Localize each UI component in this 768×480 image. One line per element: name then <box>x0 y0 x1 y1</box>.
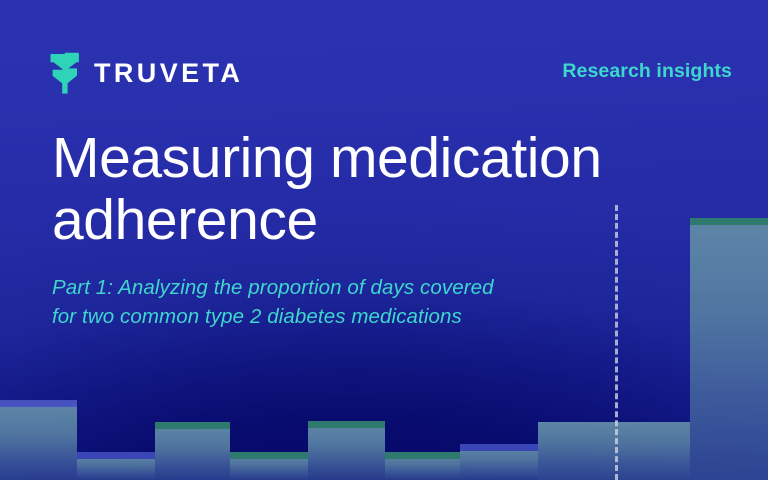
bar-8 <box>538 422 690 480</box>
bar-4 <box>230 452 308 480</box>
truveta-leaf-logo-icon <box>50 52 80 94</box>
bar-1-body <box>0 400 77 480</box>
bar-5 <box>308 421 385 480</box>
bar-7-cap <box>460 444 538 451</box>
page-title: Measuring medication adherence <box>52 128 712 251</box>
bar-2-cap <box>77 452 155 459</box>
title-block: Measuring medication adherence Part 1: A… <box>52 128 712 331</box>
bar-8-body <box>538 422 690 480</box>
bar-1-cap <box>0 400 77 407</box>
bar-3-cap <box>155 422 230 429</box>
slide-header: TRUVETA Research insights <box>0 0 768 118</box>
bar-5-cap <box>308 421 385 428</box>
bar-6-cap <box>385 452 460 459</box>
bar-3-body <box>155 422 230 480</box>
eyebrow-label: Research insights <box>562 60 732 83</box>
bar-2 <box>77 452 155 480</box>
slide-canvas: TRUVETA Research insights Measuring medi… <box>0 0 768 480</box>
truveta-logo-lockup[interactable]: TRUVETA <box>50 52 243 94</box>
bar-3 <box>155 422 230 480</box>
bar-4-cap <box>230 452 308 459</box>
truveta-wordmark: TRUVETA <box>94 60 243 87</box>
page-subtitle: Part 1: Analyzing the proportion of days… <box>52 273 712 331</box>
bar-7 <box>460 444 538 480</box>
bar-6 <box>385 452 460 480</box>
bar-1 <box>0 400 77 480</box>
bar-5-body <box>308 421 385 480</box>
